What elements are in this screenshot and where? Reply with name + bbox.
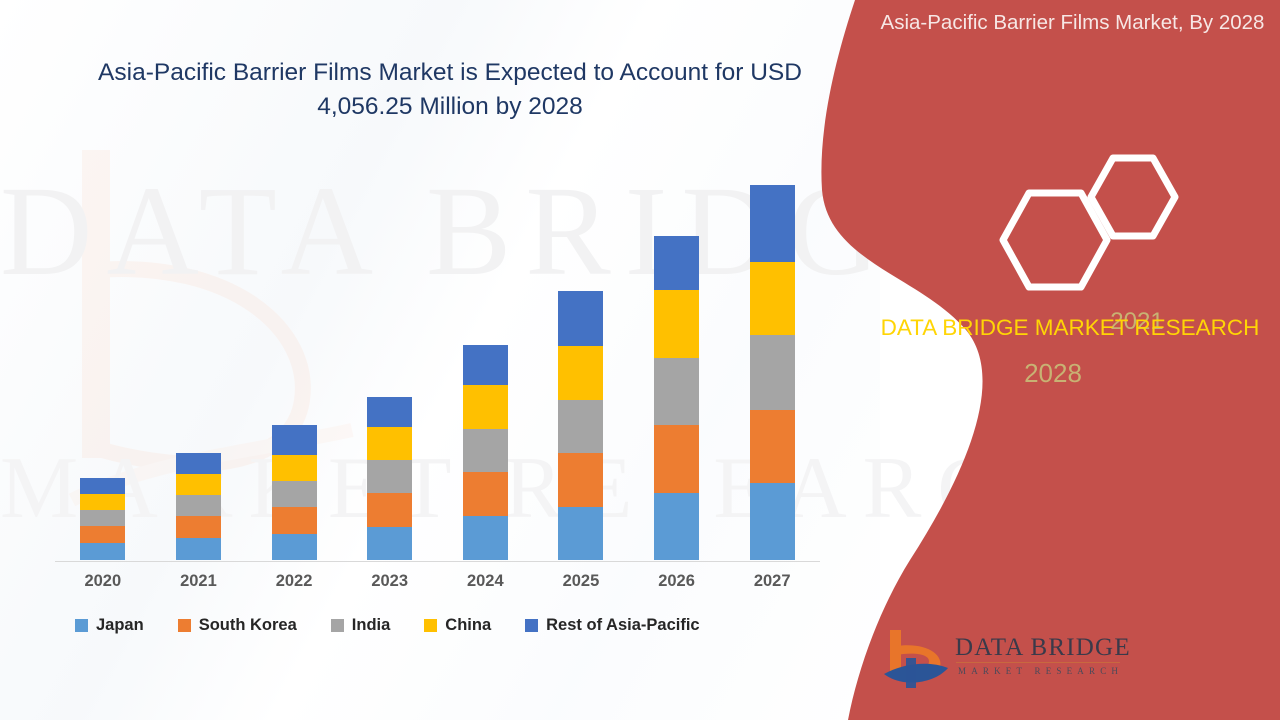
bar-segment[interactable] xyxy=(654,290,699,358)
bar-segment[interactable] xyxy=(367,460,412,493)
hexagon-group: 2021 2028 xyxy=(985,140,1215,305)
bar-segment[interactable] xyxy=(558,291,603,346)
legend-item[interactable]: China xyxy=(424,616,491,635)
slide-canvas: DATA BRIDGE MARKET RESEARCH Asia-Pacific… xyxy=(0,0,1280,720)
bar-stack[interactable] xyxy=(750,185,795,560)
bar-column xyxy=(629,150,725,560)
x-axis-tick-label: 2027 xyxy=(724,572,820,591)
panel-title: Asia-Pacific Barrier Films Market, By 20… xyxy=(880,8,1265,38)
bar-segment[interactable] xyxy=(558,453,603,507)
hexagon-label-lower: 2028 xyxy=(1003,358,1103,389)
red-panel-content: Asia-Pacific Barrier Films Market, By 20… xyxy=(860,0,1280,720)
bar-segment[interactable] xyxy=(463,472,508,516)
legend-swatch-icon xyxy=(331,619,344,632)
legend-item[interactable]: Japan xyxy=(75,616,144,635)
legend-item[interactable]: South Korea xyxy=(178,616,297,635)
bar-segment[interactable] xyxy=(367,397,412,427)
legend-item[interactable]: India xyxy=(331,616,391,635)
bar-segment[interactable] xyxy=(176,474,221,495)
bar-segment[interactable] xyxy=(558,400,603,453)
logo-divider xyxy=(956,662,1120,663)
legend-item[interactable]: Rest of Asia-Pacific xyxy=(525,616,699,635)
bar-column xyxy=(246,150,342,560)
bar-segment[interactable] xyxy=(367,493,412,527)
bar-segment[interactable] xyxy=(558,346,603,400)
legend-swatch-icon xyxy=(525,619,538,632)
logo-sub-text: MARKET RESEARCH xyxy=(958,666,1123,676)
x-axis-tick-label: 2023 xyxy=(342,572,438,591)
x-axis-tick-label: 2022 xyxy=(246,572,342,591)
bar-segment[interactable] xyxy=(272,534,317,560)
bar-stack[interactable] xyxy=(176,453,221,560)
bar-stack[interactable] xyxy=(654,236,699,560)
bar-segment[interactable] xyxy=(80,526,125,543)
x-axis-tick-label: 2024 xyxy=(438,572,534,591)
bar-segment[interactable] xyxy=(272,455,317,481)
bar-segment[interactable] xyxy=(750,185,795,262)
bar-segment[interactable] xyxy=(80,510,125,526)
bar-segment[interactable] xyxy=(463,385,508,429)
legend-swatch-icon xyxy=(178,619,191,632)
x-axis-tick-label: 2025 xyxy=(533,572,629,591)
bar-column xyxy=(533,150,629,560)
bar-segment[interactable] xyxy=(367,427,412,460)
legend-label: South Korea xyxy=(199,616,297,635)
bar-segment[interactable] xyxy=(367,527,412,560)
bar-segment[interactable] xyxy=(272,507,317,534)
company-logo: DATA BRIDGE MARKET RESEARCH xyxy=(882,628,1132,694)
bar-segment[interactable] xyxy=(463,345,508,385)
bar-group xyxy=(55,150,820,560)
bar-segment[interactable] xyxy=(750,262,795,335)
bar-segment[interactable] xyxy=(750,335,795,410)
bar-stack[interactable] xyxy=(367,397,412,560)
bar-segment[interactable] xyxy=(750,483,795,560)
legend-swatch-icon xyxy=(75,619,88,632)
legend-label: Rest of Asia-Pacific xyxy=(546,616,699,635)
bar-segment[interactable] xyxy=(272,425,317,455)
brand-name: DATA BRIDGE MARKET RESEARCH xyxy=(870,312,1270,344)
bar-segment[interactable] xyxy=(654,236,699,290)
chart-title: Asia-Pacific Barrier Films Market is Exp… xyxy=(60,56,840,123)
bar-segment[interactable] xyxy=(176,516,221,538)
x-axis-line xyxy=(55,561,820,562)
b-logo-icon xyxy=(882,628,954,690)
bar-segment[interactable] xyxy=(176,538,221,560)
bar-segment[interactable] xyxy=(80,478,125,494)
bar-column xyxy=(724,150,820,560)
bar-segment[interactable] xyxy=(80,543,125,560)
plot-area xyxy=(55,150,820,562)
logo-main-text: DATA BRIDGE xyxy=(955,634,1131,662)
bar-stack[interactable] xyxy=(558,291,603,560)
bar-segment[interactable] xyxy=(654,358,699,425)
bar-column xyxy=(342,150,438,560)
bar-segment[interactable] xyxy=(176,495,221,516)
x-axis-labels: 20202021202220232024202520262027 xyxy=(55,572,820,591)
x-axis-tick-label: 2026 xyxy=(629,572,725,591)
bar-stack[interactable] xyxy=(272,425,317,560)
bar-column xyxy=(438,150,534,560)
bar-segment[interactable] xyxy=(176,453,221,474)
legend-label: Japan xyxy=(96,616,144,635)
x-axis-tick-label: 2020 xyxy=(55,572,151,591)
bar-column xyxy=(55,150,151,560)
chart-legend: JapanSouth KoreaIndiaChinaRest of Asia-P… xyxy=(75,616,835,635)
bar-segment[interactable] xyxy=(654,425,699,493)
bar-segment[interactable] xyxy=(80,494,125,510)
bar-segment[interactable] xyxy=(463,516,508,560)
bar-segment[interactable] xyxy=(750,410,795,483)
bar-segment[interactable] xyxy=(654,493,699,560)
bar-column xyxy=(151,150,247,560)
bar-segment[interactable] xyxy=(463,429,508,472)
legend-swatch-icon xyxy=(424,619,437,632)
bar-segment[interactable] xyxy=(272,481,317,507)
bar-stack[interactable] xyxy=(463,345,508,560)
legend-label: India xyxy=(352,616,391,635)
hexagon-outlines-icon xyxy=(985,140,1215,305)
bar-stack[interactable] xyxy=(80,478,125,560)
bar-segment[interactable] xyxy=(558,507,603,560)
legend-label: China xyxy=(445,616,491,635)
x-axis-tick-label: 2021 xyxy=(151,572,247,591)
